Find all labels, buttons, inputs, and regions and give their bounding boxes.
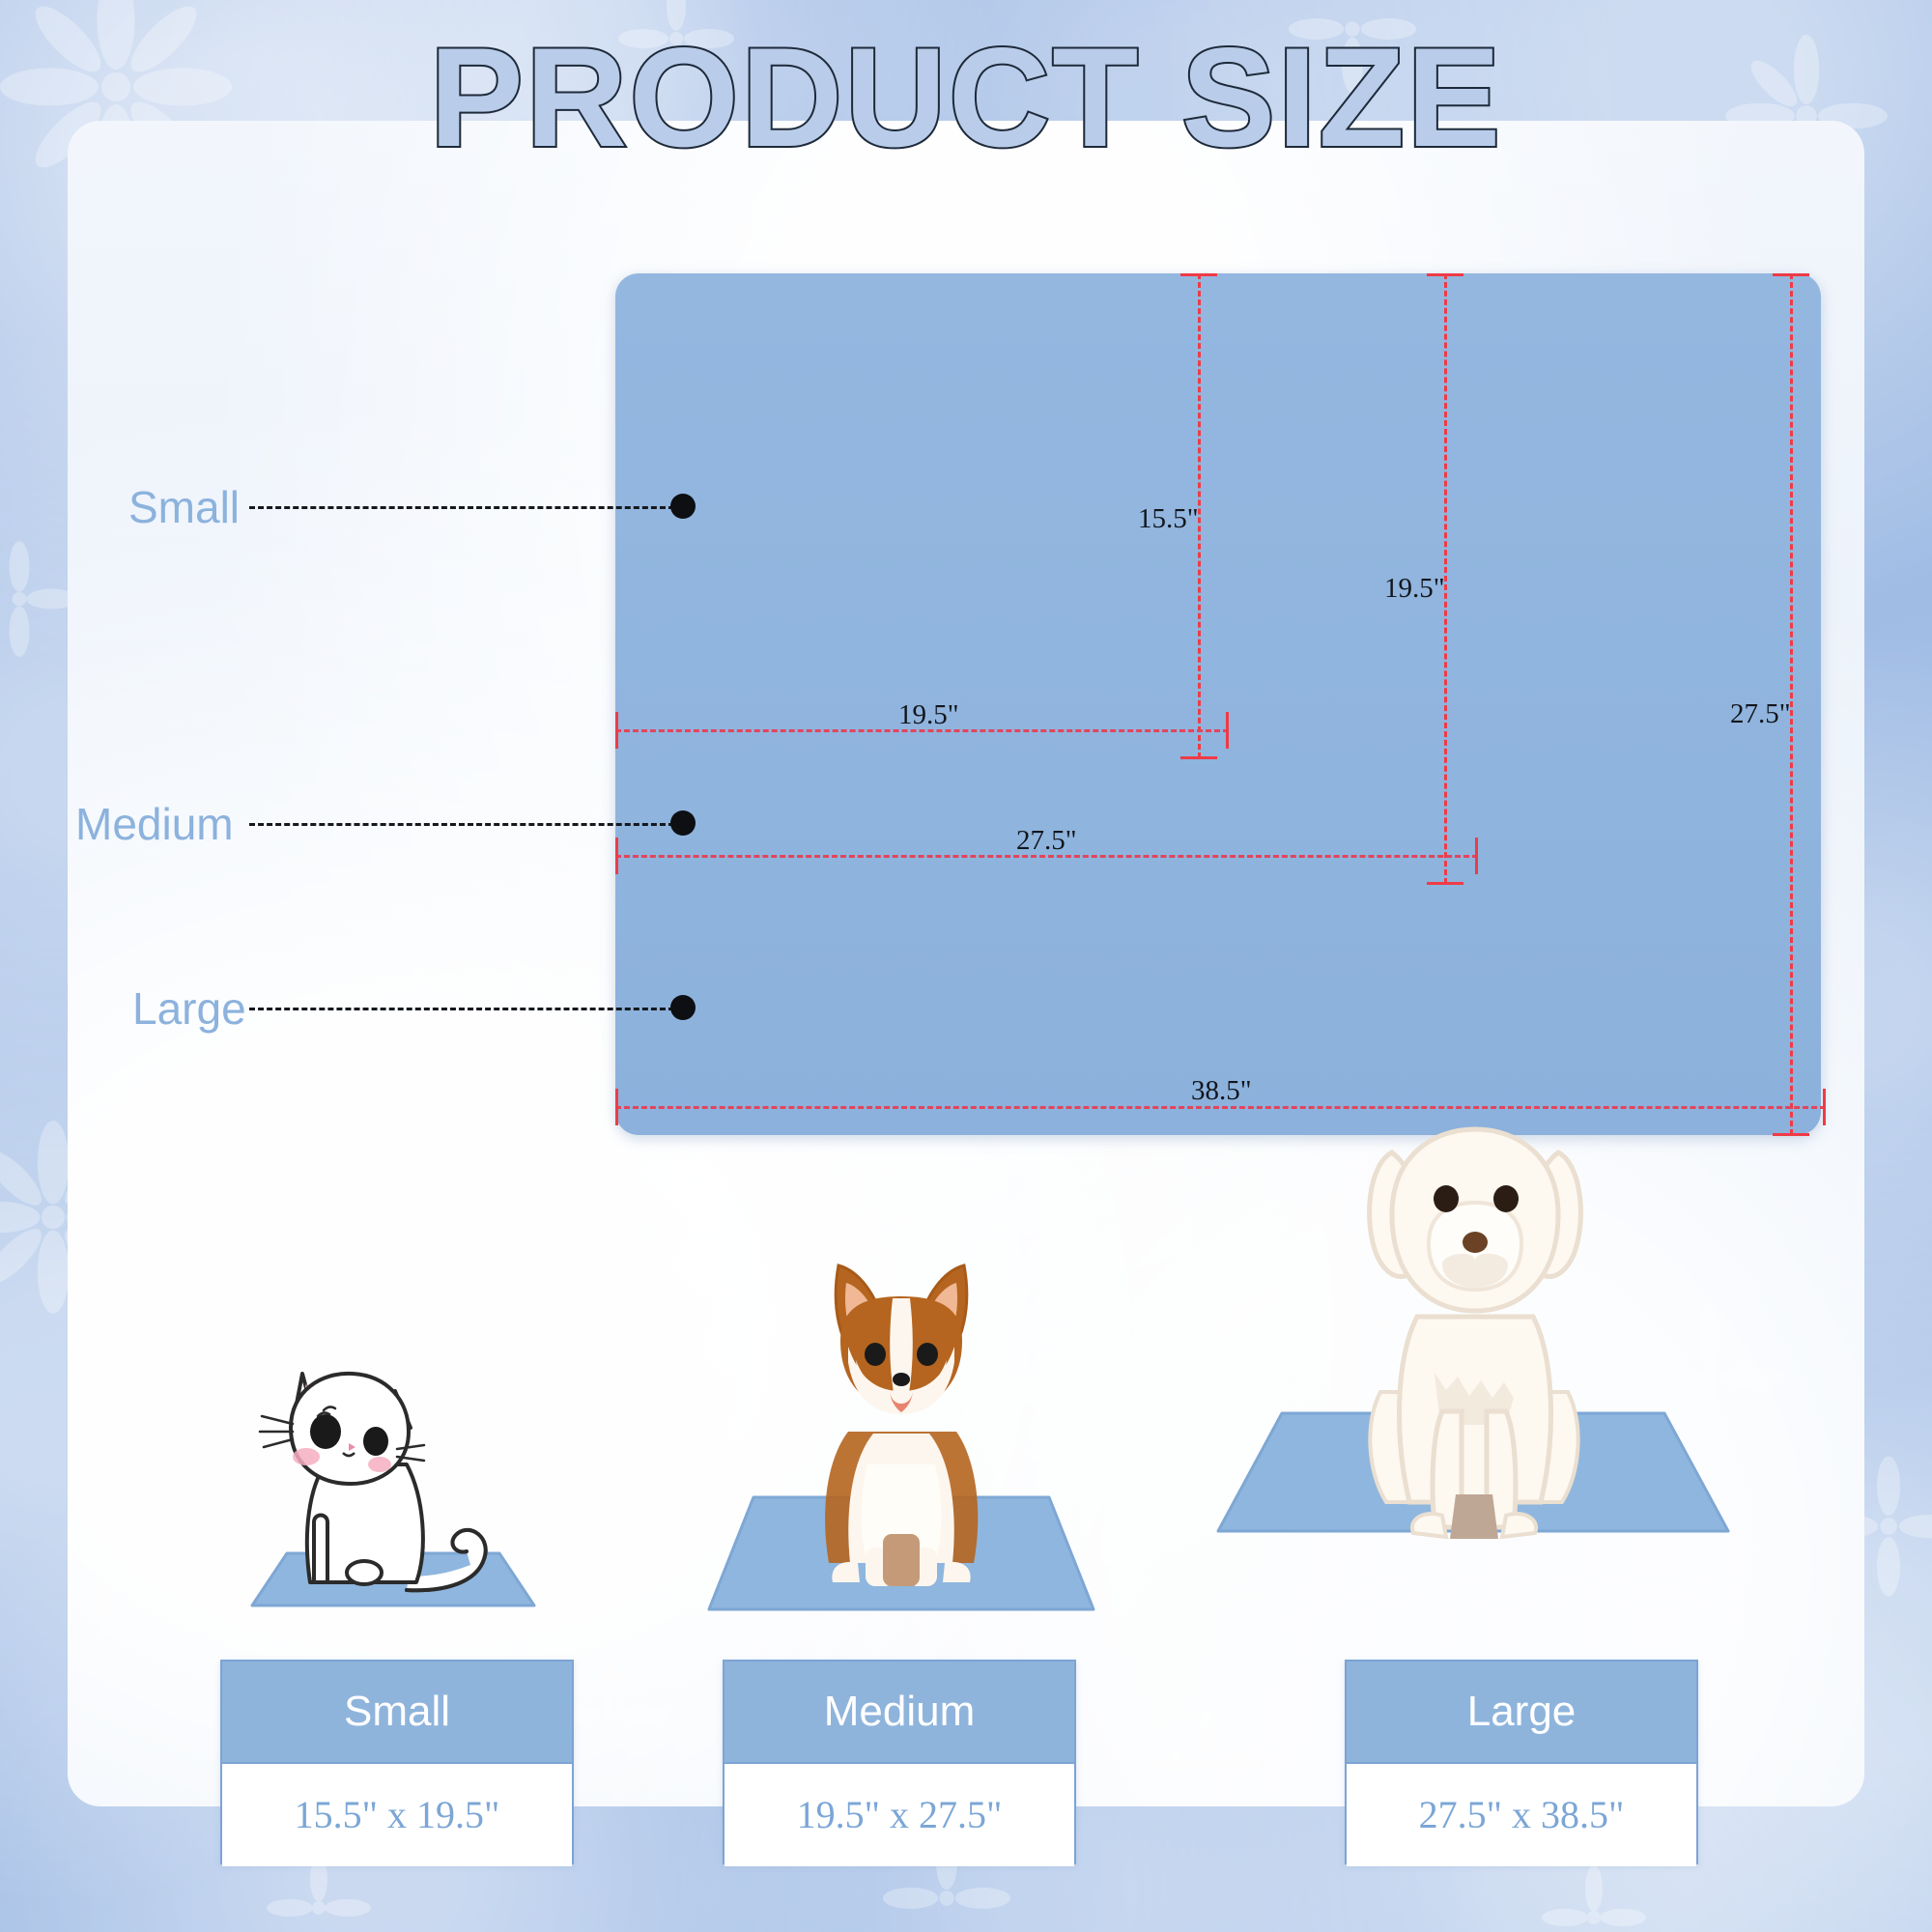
- tick-right-h-medium: [1475, 838, 1478, 874]
- callout-dot-medium: [670, 810, 696, 836]
- dimension-label-27-5-horizontal: 27.5": [1016, 825, 1077, 857]
- tick-top-large: [1773, 273, 1809, 276]
- page-title: PRODUCT SIZE: [0, 27, 1932, 168]
- dimension-label-38-5-horizontal: 38.5": [1191, 1075, 1252, 1107]
- dimension-label-15-5-vertical: 15.5": [1138, 503, 1199, 535]
- callout-leader-large: [249, 1008, 674, 1010]
- size-card-small[interactable]: Small 15.5" x 19.5": [220, 1660, 574, 1864]
- illustration-white-dog-on-large-pad: [1203, 1096, 1744, 1555]
- tick-bottom-medium: [1427, 882, 1463, 885]
- tick-top-medium: [1427, 273, 1463, 276]
- size-card-medium-title: Medium: [724, 1662, 1074, 1762]
- callout-label-large: Large: [132, 982, 246, 1035]
- tick-right-h-small: [1226, 712, 1229, 749]
- size-card-large-dimensions: 27.5" x 38.5": [1347, 1762, 1696, 1866]
- callout-label-medium: Medium: [75, 798, 234, 850]
- tick-bottom-small: [1180, 756, 1217, 759]
- size-card-small-dimensions: 15.5" x 19.5": [222, 1762, 572, 1866]
- tick-bottom-large: [1773, 1133, 1809, 1136]
- callout-label-small: Small: [128, 481, 240, 533]
- illustration-corgi-on-medium-pad: [694, 1215, 1109, 1623]
- tick-top-small: [1180, 273, 1217, 276]
- dimension-label-27-5-vertical: 27.5": [1730, 698, 1791, 730]
- callout-leader-small: [249, 506, 674, 509]
- callout-dot-large: [670, 995, 696, 1020]
- tick-left-h-medium: [615, 838, 618, 874]
- size-card-large-title: Large: [1347, 1662, 1696, 1762]
- size-card-large[interactable]: Large 27.5" x 38.5": [1345, 1660, 1698, 1864]
- size-card-small-title: Small: [222, 1662, 572, 1762]
- tick-left-h-large: [615, 1089, 618, 1125]
- size-card-medium[interactable]: Medium 19.5" x 27.5": [723, 1660, 1076, 1864]
- callout-leader-medium: [249, 823, 674, 826]
- illustration-cat-on-small-pad: [217, 1323, 546, 1623]
- product-pad-diagram: [615, 273, 1821, 1135]
- dimension-label-19-5-vertical: 19.5": [1384, 573, 1445, 605]
- tick-right-h-large: [1823, 1089, 1826, 1125]
- size-card-medium-dimensions: 19.5" x 27.5": [724, 1762, 1074, 1866]
- callout-dot-small: [670, 494, 696, 519]
- dimension-label-19-5-horizontal: 19.5": [898, 699, 959, 731]
- tick-left-h-small: [615, 712, 618, 749]
